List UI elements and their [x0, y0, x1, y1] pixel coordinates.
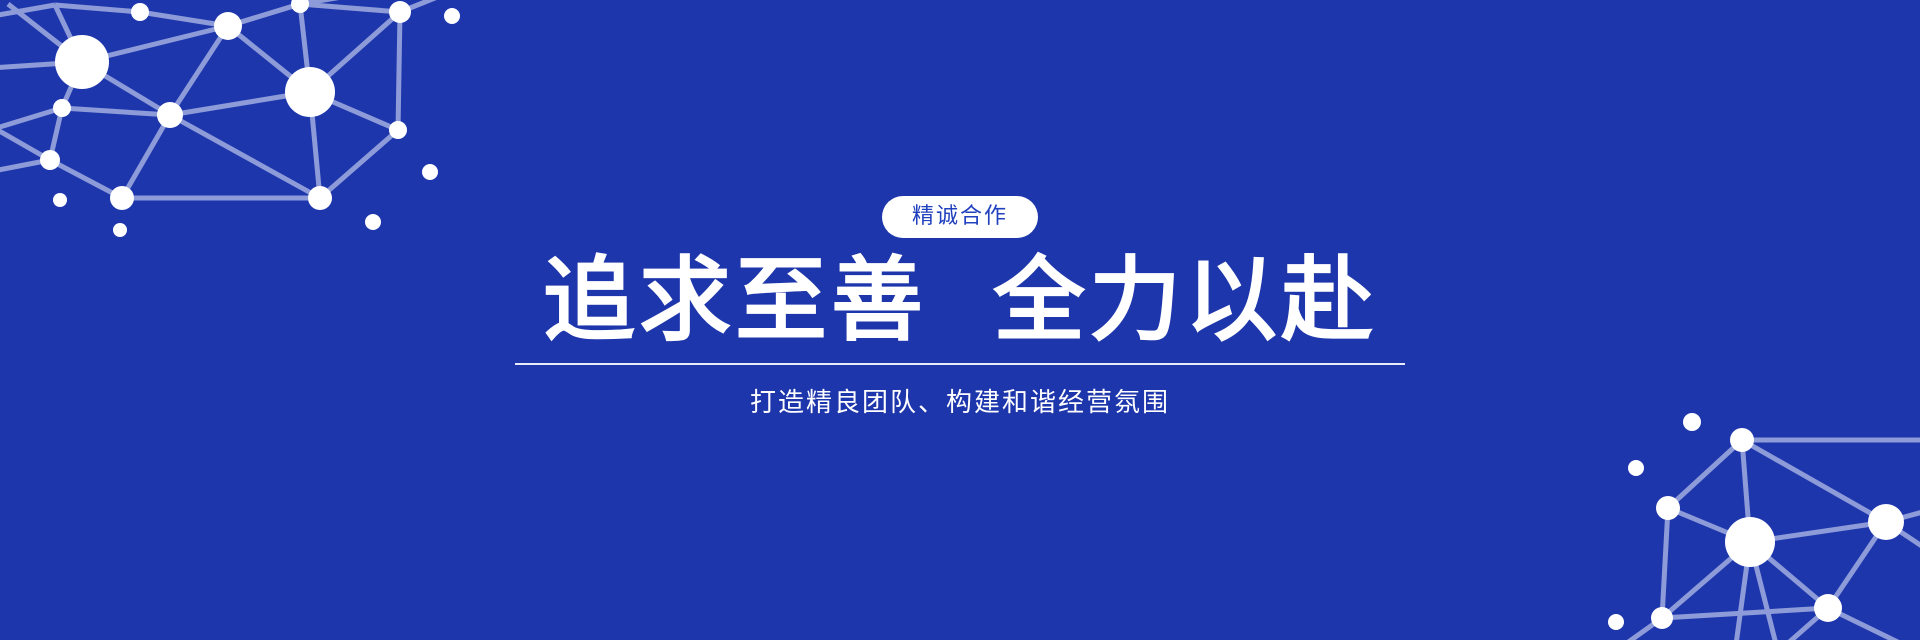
- tagline-badge: 精诚合作: [882, 196, 1038, 238]
- subtitle: 打造精良团队、构建和谐经营氛围: [750, 387, 1170, 418]
- network-edges: [0, 0, 455, 198]
- headline-part-2: 全力以赴: [993, 252, 1377, 351]
- promo-banner: 精诚合作 追求至善 全力以赴 打造精良团队、构建和谐经营氛围: [0, 0, 1920, 640]
- network-edges: [1620, 440, 1920, 640]
- network-graphic-bottom-right: [1590, 390, 1920, 640]
- banner-content: 精诚合作 追求至善 全力以赴 打造精良团队、构建和谐经营氛围: [0, 196, 1920, 419]
- divider: [515, 363, 1405, 365]
- page-title: 追求至善 全力以赴: [543, 252, 1377, 351]
- headline-part-1: 追求至善: [543, 252, 927, 351]
- network-nodes: [1608, 413, 1904, 630]
